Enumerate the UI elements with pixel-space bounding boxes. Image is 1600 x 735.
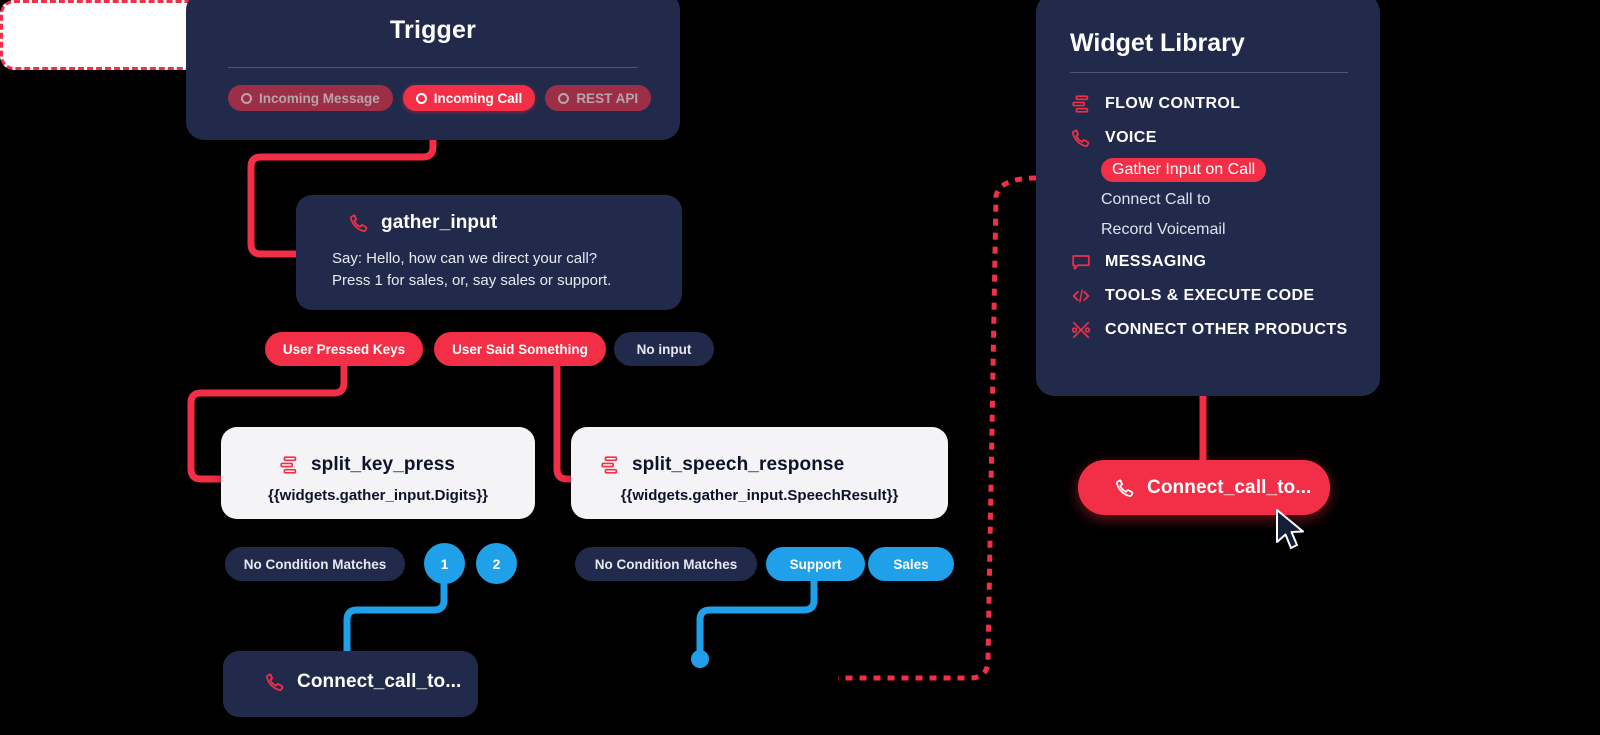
outcome-no-condition-matches-1[interactable]: No Condition Matches bbox=[225, 547, 405, 581]
node-header: gather_input bbox=[348, 212, 497, 234]
widget-library-panel: Widget Library FLOW CONTROL VOICE Gather… bbox=[1036, 0, 1380, 396]
node-subtitle: Say: Hello, how can we direct your call?… bbox=[332, 248, 672, 292]
code-icon bbox=[1070, 285, 1092, 307]
wire-digit1-to-connect bbox=[347, 584, 444, 652]
library-item-record-voicemail[interactable]: Record Voicemail bbox=[1070, 215, 1370, 245]
node-title: split_speech_response bbox=[632, 454, 844, 476]
outcome-no-condition-matches-2[interactable]: No Condition Matches bbox=[575, 547, 757, 581]
trigger-option-incoming-message[interactable]: Incoming Message bbox=[228, 85, 393, 111]
node-press-line: Press 1 for sales, or, say sales or supp… bbox=[332, 270, 672, 292]
message-icon bbox=[1070, 251, 1092, 273]
outcome-digit-1[interactable]: 1 bbox=[424, 543, 465, 584]
library-category-connect-other-products[interactable]: CONNECT OTHER PRODUCTS bbox=[1070, 313, 1370, 347]
trigger-option-label: Incoming Message bbox=[259, 91, 380, 106]
trigger-options: Incoming Message Incoming Call REST API bbox=[228, 85, 651, 111]
node-title: Connect_call_to... bbox=[297, 671, 461, 693]
trigger-option-label: REST API bbox=[576, 91, 638, 106]
library-category-label: TOOLS & EXECUTE CODE bbox=[1105, 287, 1315, 305]
phone-icon bbox=[264, 671, 286, 693]
mouse-pointer-icon bbox=[1274, 508, 1308, 552]
node-title: split_key_press bbox=[311, 454, 455, 476]
node-header: Connect_call_to... bbox=[1114, 477, 1311, 499]
phone-icon bbox=[1070, 127, 1092, 149]
node-header: split_key_press bbox=[278, 454, 455, 476]
library-item-connect-call-to[interactable]: Connect Call to bbox=[1070, 185, 1370, 215]
connect-products-icon bbox=[1070, 319, 1092, 341]
divider bbox=[228, 67, 638, 68]
library-category-label: CONNECT OTHER PRODUCTS bbox=[1105, 321, 1348, 339]
outcome-user-pressed-keys[interactable]: User Pressed Keys bbox=[265, 332, 423, 366]
dragged-widget-connect-call-to[interactable]: Connect_call_to... bbox=[1078, 460, 1330, 515]
library-category-label: FLOW CONTROL bbox=[1105, 95, 1240, 113]
library-category-voice[interactable]: VOICE bbox=[1070, 121, 1370, 155]
wire-support-to-drop bbox=[700, 581, 814, 653]
flow-control-icon bbox=[599, 454, 621, 476]
node-header: split_speech_response bbox=[599, 454, 844, 476]
trigger-option-rest-api[interactable]: REST API bbox=[545, 85, 651, 111]
outcome-user-said-something[interactable]: User Said Something bbox=[434, 332, 606, 366]
outcome-no-input[interactable]: No input bbox=[614, 332, 714, 366]
divider bbox=[1070, 72, 1348, 73]
library-category-label: MESSAGING bbox=[1105, 253, 1206, 271]
library-item-label: Gather Input on Call bbox=[1101, 158, 1266, 182]
outcome-sales[interactable]: Sales bbox=[868, 547, 954, 581]
trigger-option-label: Incoming Call bbox=[434, 91, 523, 106]
node-subtitle: {{widgets.gather_input.Digits}} bbox=[221, 485, 535, 507]
library-item-gather-input-on-call[interactable]: Gather Input on Call bbox=[1070, 155, 1370, 185]
trigger-title: Trigger bbox=[186, 16, 680, 45]
node-subtitle: {{widgets.gather_input.SpeechResult}} bbox=[571, 485, 948, 507]
dragged-widget-label: Connect_call_to... bbox=[1147, 477, 1311, 499]
trigger-panel: Trigger Incoming Message Incoming Call R… bbox=[186, 0, 680, 140]
library-category-label: VOICE bbox=[1105, 129, 1157, 147]
library-category-messaging[interactable]: MESSAGING bbox=[1070, 245, 1370, 279]
wire-endpoint-drop bbox=[691, 650, 709, 668]
node-split-speech-response[interactable]: split_speech_response {{widgets.gather_i… bbox=[571, 427, 948, 519]
node-split-key-press[interactable]: split_key_press {{widgets.gather_input.D… bbox=[221, 427, 535, 519]
phone-icon bbox=[1114, 477, 1136, 499]
library-title: Widget Library bbox=[1070, 29, 1245, 58]
flow-canvas: Trigger Incoming Message Incoming Call R… bbox=[0, 0, 1600, 735]
node-say-line: Say: Hello, how can we direct your call? bbox=[332, 248, 672, 270]
flow-control-icon bbox=[1070, 93, 1092, 115]
radio-icon bbox=[558, 93, 569, 104]
flow-control-icon bbox=[278, 454, 300, 476]
node-title: gather_input bbox=[381, 212, 497, 234]
node-gather-input[interactable]: gather_input Say: Hello, how can we dire… bbox=[296, 195, 682, 310]
phone-icon bbox=[348, 212, 370, 234]
outcome-support[interactable]: Support bbox=[766, 547, 865, 581]
outcome-digit-2[interactable]: 2 bbox=[476, 543, 517, 584]
library-item-label: Connect Call to bbox=[1101, 191, 1210, 209]
node-header: Connect_call_to... bbox=[264, 671, 461, 693]
library-category-tools-execute-code[interactable]: TOOLS & EXECUTE CODE bbox=[1070, 279, 1370, 313]
library-category-flow-control[interactable]: FLOW CONTROL bbox=[1070, 87, 1370, 121]
node-connect-call-to[interactable]: Connect_call_to... bbox=[223, 651, 478, 717]
radio-icon bbox=[241, 93, 252, 104]
trigger-option-incoming-call[interactable]: Incoming Call bbox=[403, 85, 536, 111]
library-item-label: Record Voicemail bbox=[1101, 221, 1226, 239]
radio-icon bbox=[416, 93, 427, 104]
library-list: FLOW CONTROL VOICE Gather Input on Call … bbox=[1070, 87, 1370, 347]
